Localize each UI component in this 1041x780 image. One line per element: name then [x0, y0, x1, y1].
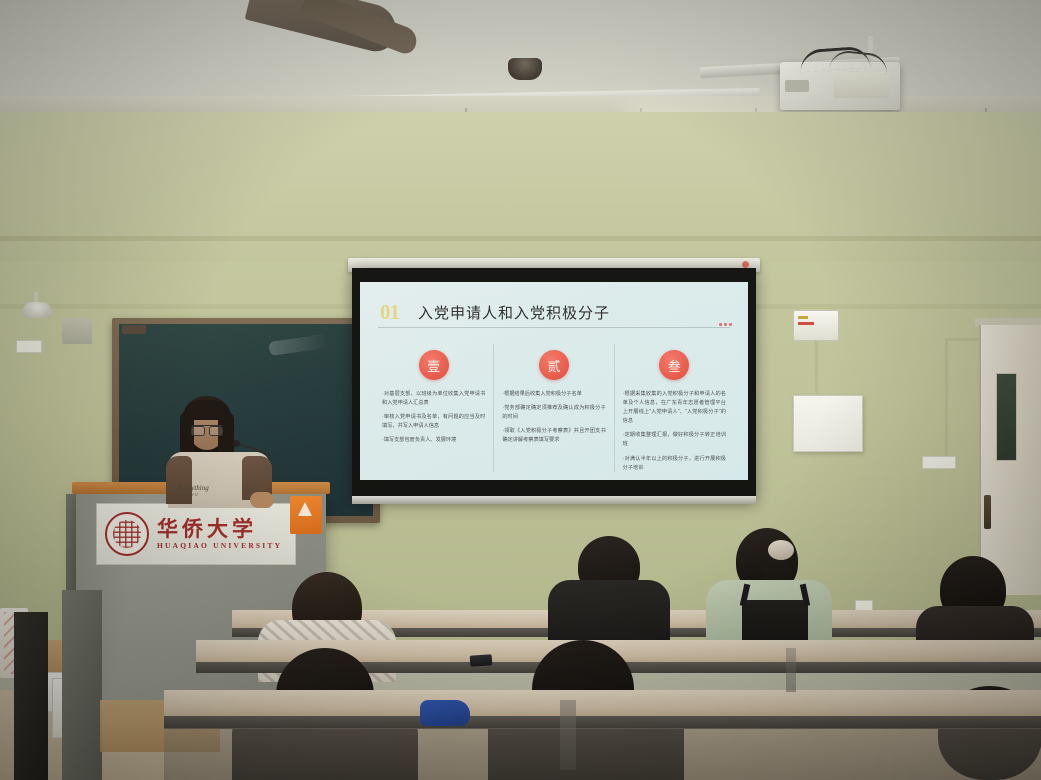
- column-badge: 壹: [419, 350, 449, 380]
- wall-control-box[interactable]: [793, 310, 839, 341]
- classroom-door[interactable]: [979, 325, 1041, 595]
- slide-decor-dots: [719, 323, 732, 326]
- bullet: ·对基层支部、以班级为单位收集入党申请书和入党申请人汇总表: [382, 390, 485, 408]
- security-camera-icon: [22, 302, 52, 318]
- slide-number: 01: [380, 300, 399, 325]
- podium-logo-en: HUAQIAO UNIVERSITY: [157, 541, 282, 550]
- bullet: ·根据结果后收集入党积极分子名单: [502, 390, 605, 399]
- column-bullets: ·根据采集收集的入党积极分子和申请人的名单及个人信息，在广东青年志愿者管理平台上…: [623, 390, 726, 473]
- slide-column: 壹 ·对基层支部、以班级为单位收集入党申请书和入党申请人汇总表 ·审核入党申请书…: [374, 344, 493, 472]
- bullet: ·对满认半年以上的积极分子，进行开展积极分子培训: [623, 455, 726, 473]
- wall-conduit: [945, 340, 948, 458]
- slide-title: 入党申请人和入党积极分子: [418, 302, 610, 323]
- shirt-line-2: you like it: [178, 493, 242, 499]
- screen-bottom-bar: [352, 496, 756, 504]
- presenter-hand: [250, 492, 274, 508]
- podium-nameplate: 华侨大学 HUAQIAO UNIVERSITY: [96, 503, 296, 565]
- slide-column: 贰 ·根据结果后收集入党积极分子名单 ·党务部确定确定须推荐及确认成为积极分子的…: [493, 344, 613, 472]
- bullet: ·领取《入党积极分子考察表》并且开团支书确定讲解考察表填写要求: [502, 427, 605, 445]
- column-badge: 贰: [539, 350, 569, 380]
- chalk-mark: [268, 334, 327, 356]
- bullet: ·审核入党申请书及名单，有问题的应当及时填写，并写入申请人信息: [382, 413, 485, 431]
- bench-leg: [786, 648, 796, 692]
- smoke-detector-icon: [508, 58, 542, 80]
- presentation-slide: 01 入党申请人和入党积极分子 壹 ·对基层支部、以班级为单位收集入党申请书和入…: [360, 282, 748, 480]
- wall-junction-box: [62, 318, 92, 344]
- blackboard-tag: [122, 325, 146, 334]
- wall-socket: [16, 340, 42, 353]
- presenter: Everything you like it: [162, 396, 274, 506]
- column-badge: 叁: [659, 350, 689, 380]
- grey-pillar: [62, 590, 102, 780]
- wall-conduit: [815, 341, 818, 393]
- column-bullets: ·根据结果后收集入党积极分子名单 ·党务部确定确定须推荐及确认成为积极分子的时间…: [502, 390, 605, 445]
- podium-logo-cn: 华侨大学: [157, 518, 282, 539]
- wall-trim: [0, 236, 1041, 241]
- hair-scrunchie: [768, 540, 794, 560]
- student-torso: [548, 580, 670, 642]
- slide-title-divider: [378, 327, 730, 328]
- wall-socket: [922, 456, 956, 469]
- classroom-photo: 01 入党申请人和入党积极分子 壹 ·对基层支部、以班级为单位收集入党申请书和入…: [0, 0, 1041, 780]
- door-window: [996, 373, 1017, 461]
- slide-columns: 壹 ·对基层支部、以班级为单位收集入党申请书和入党申请人汇总表 ·审核入党申请书…: [374, 344, 734, 472]
- screen-indicator-dot: [742, 261, 749, 268]
- bullet: ·根据采集收集的入党积极分子和申请人的名单及个人信息，在广东青年志愿者管理平台上…: [623, 390, 726, 426]
- shirt-line-1: Everything: [178, 484, 209, 492]
- blue-bag-on-desk: [420, 700, 470, 726]
- projection-screen: 01 入党申请人和入党积极分子 壹 ·对基层支部、以班级为单位收集入党申请书和入…: [352, 268, 756, 500]
- presenter-shirt-text: Everything you like it: [178, 484, 242, 499]
- bench-leg: [560, 700, 576, 770]
- bullet: ·党务部确定确定须推荐及确认成为积极分子的时间: [502, 404, 605, 422]
- column-bullets: ·对基层支部、以班级为单位收集入党申请书和入党申请人汇总表 ·审核入党申请书及名…: [382, 390, 485, 445]
- smartphone-on-desk: [470, 654, 493, 667]
- wall-panel: [793, 395, 863, 452]
- huaqiao-university-seal-icon: [105, 512, 149, 556]
- podium-orange-sign: [290, 496, 322, 534]
- desk-row-front-panel: [164, 728, 1041, 780]
- glasses-icon: [191, 425, 223, 433]
- bullet: ·填写支部包册负责人、发展环境: [382, 436, 485, 445]
- student-overall-bib: [742, 600, 808, 644]
- door-handle-icon[interactable]: [984, 495, 991, 529]
- bullet: ·定期收集整理汇报，做好积极分子转正培训班: [623, 431, 726, 449]
- slide-column: 叁 ·根据采集收集的入党积极分子和申请人的名单及个人信息，在广东青年志愿者管理平…: [614, 344, 734, 472]
- dark-cabinet: [14, 612, 48, 780]
